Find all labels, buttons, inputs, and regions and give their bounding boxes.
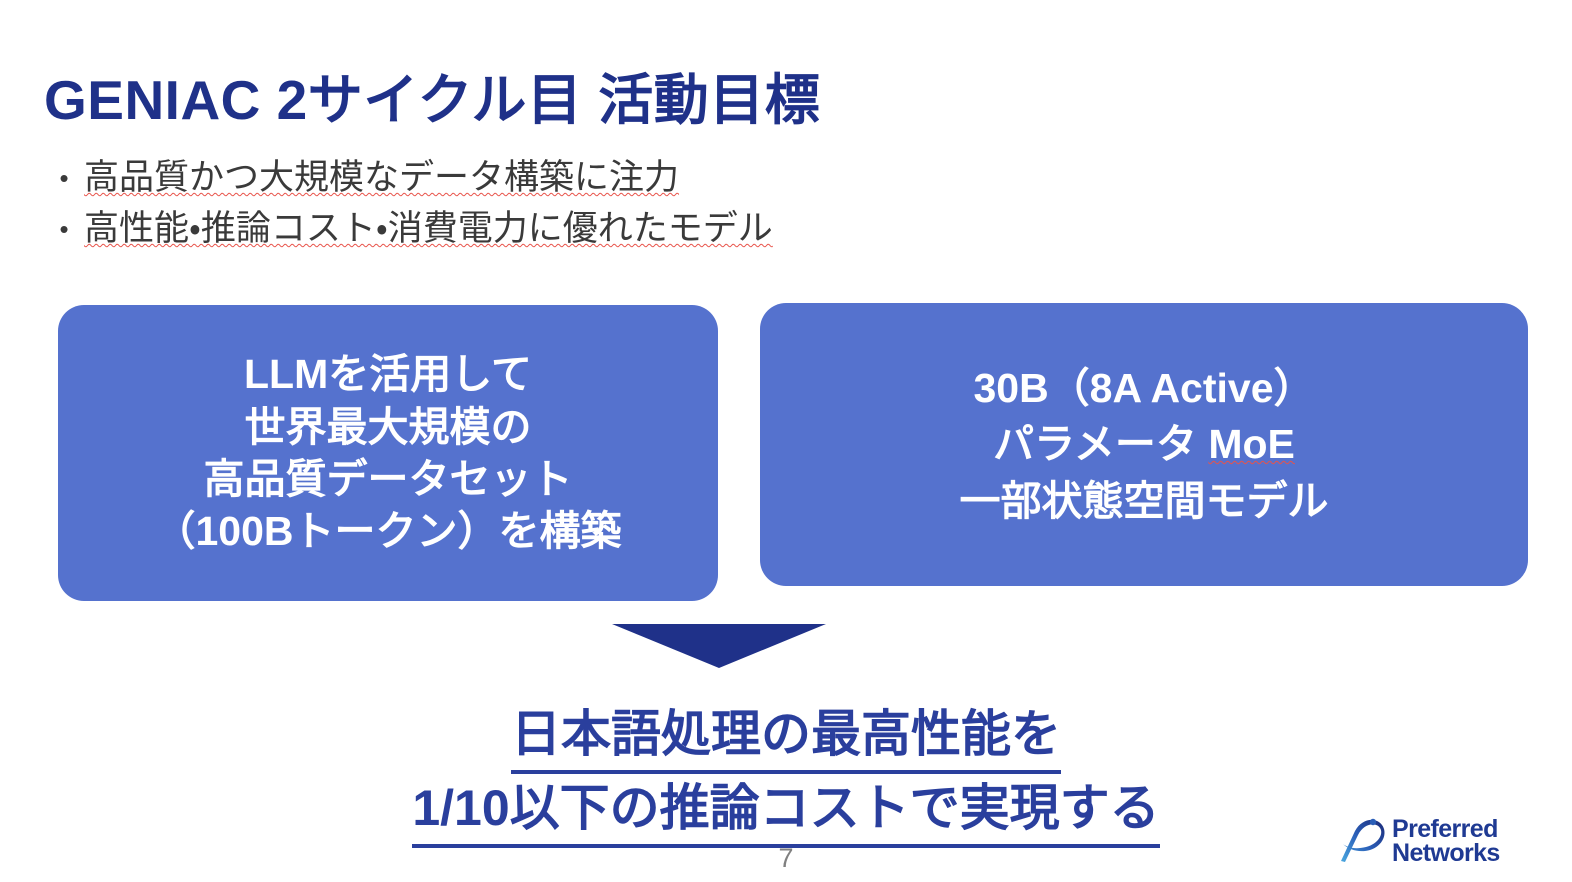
page-number: 7 bbox=[0, 843, 1572, 874]
model-spec-line-2-prefix: パラメータ bbox=[993, 421, 1208, 467]
dataset-goal-line-2: 世界最大規模の bbox=[245, 401, 532, 453]
bullet-text: 高品質かつ大規模なデータ構築に注力 bbox=[84, 155, 679, 201]
list-item: • 高品質かつ大規模なデータ構築に注力 bbox=[44, 155, 1194, 206]
model-spec-line-1: 30B（8A Active） bbox=[973, 360, 1314, 417]
model-spec-line-2-term: MoE bbox=[1208, 421, 1295, 467]
bullet-dot-icon: • bbox=[44, 206, 84, 252]
dataset-goal-line-3: 高品質データセット bbox=[204, 453, 573, 505]
dataset-goal-line-1: LLMを活用して bbox=[244, 348, 532, 400]
bullet-text: 高性能・推論コスト・消費電力に優れたモデル bbox=[84, 206, 773, 252]
bullet-dot-icon: • bbox=[44, 155, 84, 201]
preferred-networks-logo: Preferred Networks bbox=[1338, 812, 1544, 870]
model-spec-line-3: 一部状態空間モデル bbox=[960, 473, 1329, 530]
down-arrow-icon bbox=[612, 624, 826, 668]
bullet-list: • 高品質かつ大規模なデータ構築に注力 • 高性能・推論コスト・消費電力に優れた… bbox=[44, 155, 1194, 257]
dataset-goal-box: LLMを活用して 世界最大規模の 高品質データセット （100Bトークン）を構築 bbox=[58, 305, 718, 601]
preferred-networks-wordmark: Preferred Networks bbox=[1392, 817, 1500, 866]
dataset-goal-line-4: （100Bトークン）を構築 bbox=[154, 505, 621, 557]
conclusion-line-1: 日本語処理の最高性能を bbox=[511, 700, 1061, 774]
model-spec-line-2: パラメータ MoE bbox=[993, 416, 1295, 473]
model-spec-box: 30B（8A Active） パラメータ MoE 一部状態空間モデル bbox=[760, 303, 1528, 586]
logo-line-1: Preferred bbox=[1392, 817, 1500, 842]
logo-line-2: Networks bbox=[1392, 841, 1500, 866]
conclusion-statement: 日本語処理の最高性能を 1/10以下の推論コストで実現する bbox=[0, 700, 1572, 848]
list-item: • 高性能・推論コスト・消費電力に優れたモデル bbox=[44, 206, 1194, 257]
page-title: GENIAC 2サイクル目 活動目標 bbox=[44, 69, 1144, 132]
slide-canvas: GENIAC 2サイクル目 活動目標 • 高品質かつ大規模なデータ構築に注力 •… bbox=[0, 0, 1572, 882]
preferred-networks-mark-icon bbox=[1338, 815, 1388, 867]
conclusion-line-2: 1/10以下の推論コストで実現する bbox=[412, 774, 1159, 848]
